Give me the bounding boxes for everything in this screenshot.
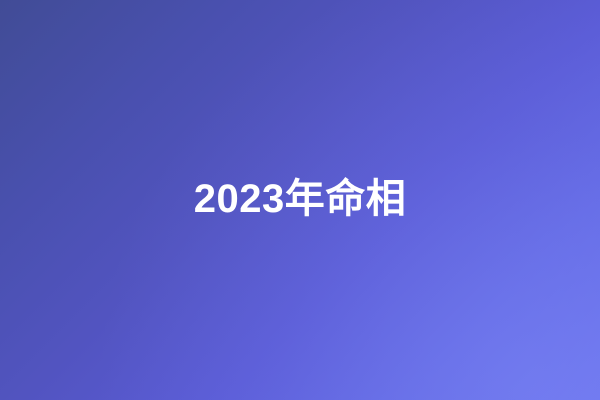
banner-background: 2023年命相	[0, 0, 600, 400]
banner-title: 2023年命相	[194, 179, 406, 219]
